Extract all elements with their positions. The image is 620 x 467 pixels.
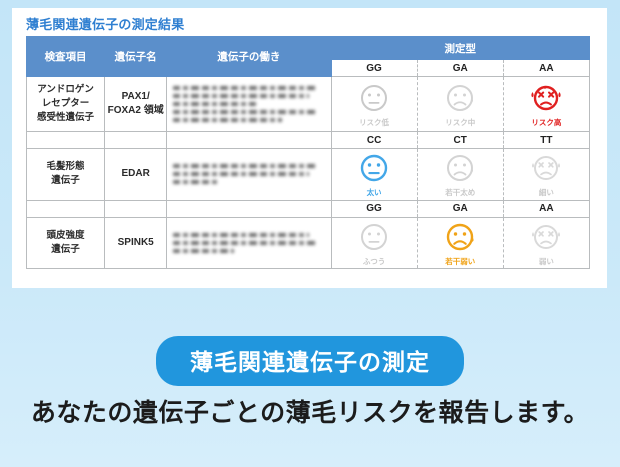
row-item-2: 毛髪形態 遺伝子	[27, 149, 105, 201]
dead-face-icon	[526, 153, 566, 183]
genotype-label-r2c3: 細い	[504, 189, 589, 197]
row-item-1-line-2: レセプター	[42, 98, 90, 109]
genotype-code-r3c3: AA	[503, 200, 589, 217]
genotype-code-r1c2: GA	[417, 60, 503, 77]
row-gene-1-line-1: PAX1/	[122, 91, 150, 102]
row-function-1-text	[173, 86, 324, 122]
genotype-cell-r3c2[interactable]: 若干弱い	[417, 217, 503, 269]
table-row: アンドロゲン レセプター 感受性遺伝子 PAX1/ FOXA2 領域	[27, 77, 590, 132]
spacer-func-3	[167, 200, 331, 217]
genotype-label-r3c3: 弱い	[504, 258, 589, 266]
spacer-gene-3	[105, 200, 167, 217]
spacer-gene-2	[105, 132, 167, 149]
page-root: 薄毛関連遺伝子の測定結果 検査項目 遺伝子名 遺伝子の働き 測定型 GG GA …	[0, 0, 620, 467]
row-gene-1-line-2: FOXA2 領域	[108, 105, 164, 116]
row-item-2-line-1: 毛髪形態	[47, 161, 85, 172]
row-item-3-line-2: 遺伝子	[51, 244, 80, 255]
genotype-code-r1c3: AA	[503, 60, 589, 77]
neutral-face-icon	[354, 83, 394, 113]
page-title: 薄毛関連遺伝子の測定結果	[26, 14, 184, 33]
row-function-1	[167, 77, 331, 132]
row-gene-2: EDAR	[105, 149, 167, 201]
genotype-label-r2c2: 若干太め	[418, 189, 503, 197]
genotype-cell-r3c3[interactable]: 弱い	[503, 217, 589, 269]
sad-face-icon	[440, 222, 480, 252]
neutral-face-icon	[354, 222, 394, 252]
gene-result-table: 検査項目 遺伝子名 遺伝子の働き 測定型 GG GA AA アンドロゲン レセプ…	[26, 36, 590, 269]
row-item-1-line-1: アンドロゲン	[37, 84, 94, 95]
genotype-cell-r2c1[interactable]: 太い	[331, 149, 417, 201]
table-row: 毛髪形態 遺伝子 EDAR	[27, 149, 590, 201]
table-row: 頭皮強度 遺伝子 SPINK5	[27, 217, 590, 269]
genotype-code-r2c3: TT	[503, 132, 589, 149]
sad-face-icon	[440, 83, 480, 113]
row-item-1-line-3: 感受性遺伝子	[37, 112, 94, 123]
row-item-1: アンドロゲン レセプター 感受性遺伝子	[27, 77, 105, 132]
col-header-item: 検査項目	[27, 37, 105, 77]
genotype-subheader-row-3: GG GA AA	[27, 200, 590, 217]
genotype-code-r1c1: GG	[331, 60, 417, 77]
row-gene-3: SPINK5	[105, 217, 167, 269]
genotype-label-r2c1: 太い	[332, 189, 417, 197]
row-function-2	[167, 149, 331, 201]
sad-face-icon	[440, 153, 480, 183]
col-header-function: 遺伝子の働き	[167, 37, 331, 77]
genotype-label-r1c1: リスク低	[332, 119, 417, 127]
row-function-3	[167, 217, 331, 269]
genotype-code-r3c1: GG	[331, 200, 417, 217]
lead-text: あなたの遺伝子ごとの薄毛リスクを報告します。	[0, 393, 620, 429]
row-function-2-text	[173, 164, 324, 184]
genotype-cell-r2c3[interactable]: 細い	[503, 149, 589, 201]
genotype-label-r3c2: 若干弱い	[418, 258, 503, 266]
row-gene-1: PAX1/ FOXA2 領域	[105, 77, 167, 132]
genotype-cell-r1c2[interactable]: リスク中	[417, 77, 503, 132]
genotype-code-r3c2: GA	[417, 200, 503, 217]
result-card: 薄毛関連遺伝子の測定結果 検査項目 遺伝子名 遺伝子の働き 測定型 GG GA …	[12, 8, 607, 288]
genotype-cell-r1c3[interactable]: リスク高	[503, 77, 589, 132]
neutral-face-icon	[354, 153, 394, 183]
col-header-genotype: 測定型	[331, 37, 590, 60]
col-header-gene: 遺伝子名	[105, 37, 167, 77]
genotype-label-r1c3: リスク高	[504, 119, 589, 127]
genotype-label-r1c2: リスク中	[418, 119, 503, 127]
dead-face-icon	[526, 222, 566, 252]
genotype-cell-r2c2[interactable]: 若干太め	[417, 149, 503, 201]
spacer-item-3	[27, 200, 105, 217]
row-function-3-text	[173, 233, 324, 253]
row-item-2-line-2: 遺伝子	[51, 175, 80, 186]
genotype-cell-r3c1[interactable]: ふつう	[331, 217, 417, 269]
genotype-cell-r1c1[interactable]: リスク低	[331, 77, 417, 132]
genotype-subheader-row-2: CC CT TT	[27, 132, 590, 149]
dead-face-icon	[526, 83, 566, 113]
row-item-3: 頭皮強度 遺伝子	[27, 217, 105, 269]
genotype-label-r3c1: ふつう	[332, 258, 417, 266]
section-pill-label: 薄毛関連遺伝子の測定	[156, 336, 464, 386]
genotype-code-r2c2: CT	[417, 132, 503, 149]
genotype-code-r2c1: CC	[331, 132, 417, 149]
table-header-row: 検査項目 遺伝子名 遺伝子の働き 測定型	[27, 37, 590, 60]
spacer-func-2	[167, 132, 331, 149]
spacer-item-2	[27, 132, 105, 149]
row-item-3-line-1: 頭皮強度	[47, 230, 85, 241]
